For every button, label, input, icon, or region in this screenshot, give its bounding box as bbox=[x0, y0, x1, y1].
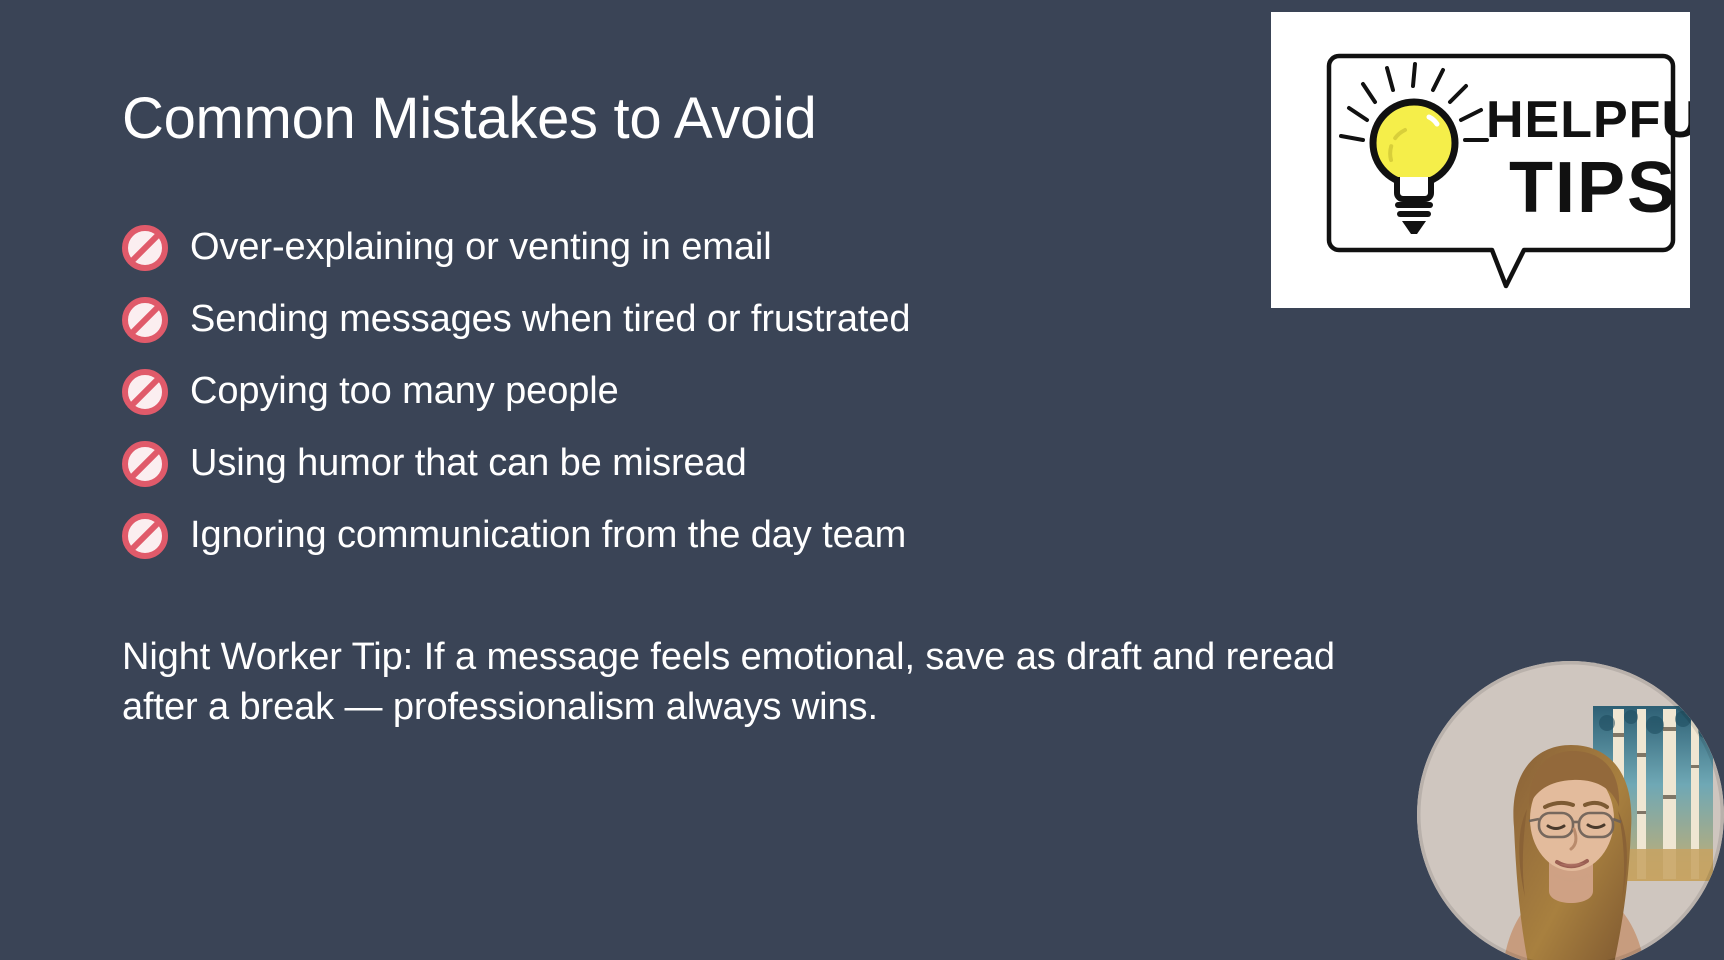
page-title: Common Mistakes to Avoid bbox=[122, 88, 816, 149]
list-item-label: Copying too many people bbox=[190, 371, 619, 413]
prohibited-icon bbox=[122, 225, 168, 271]
list-item-label: Sending messages when tired or frustrate… bbox=[190, 299, 910, 341]
list-item-label: Using humor that can be misread bbox=[190, 443, 747, 485]
helpful-tips-image: HELPFUL TIPS bbox=[1271, 12, 1690, 308]
svg-text:HELPFUL: HELPFUL bbox=[1486, 91, 1690, 149]
prohibited-icon bbox=[122, 441, 168, 487]
svg-text:TIPS: TIPS bbox=[1509, 148, 1677, 228]
list-item: Using humor that can be misread bbox=[122, 428, 1122, 500]
prohibited-icon bbox=[122, 513, 168, 559]
list-item: Sending messages when tired or frustrate… bbox=[122, 284, 1122, 356]
list-item-label: Over-explaining or venting in email bbox=[190, 227, 772, 269]
night-worker-tip-text: Night Worker Tip: If a message feels emo… bbox=[122, 632, 1337, 732]
mistakes-bullet-list: Over-explaining or venting in email Send… bbox=[122, 212, 1122, 572]
presenter-video-bubble[interactable] bbox=[1417, 661, 1724, 960]
list-item: Copying too many people bbox=[122, 356, 1122, 428]
presentation-slide: Common Mistakes to Avoid Over-explaining… bbox=[0, 0, 1724, 960]
list-item: Ignoring communication from the day team bbox=[122, 500, 1122, 572]
list-item-label: Ignoring communication from the day team bbox=[190, 515, 906, 557]
prohibited-icon bbox=[122, 369, 168, 415]
prohibited-icon bbox=[122, 297, 168, 343]
list-item: Over-explaining or venting in email bbox=[122, 212, 1122, 284]
